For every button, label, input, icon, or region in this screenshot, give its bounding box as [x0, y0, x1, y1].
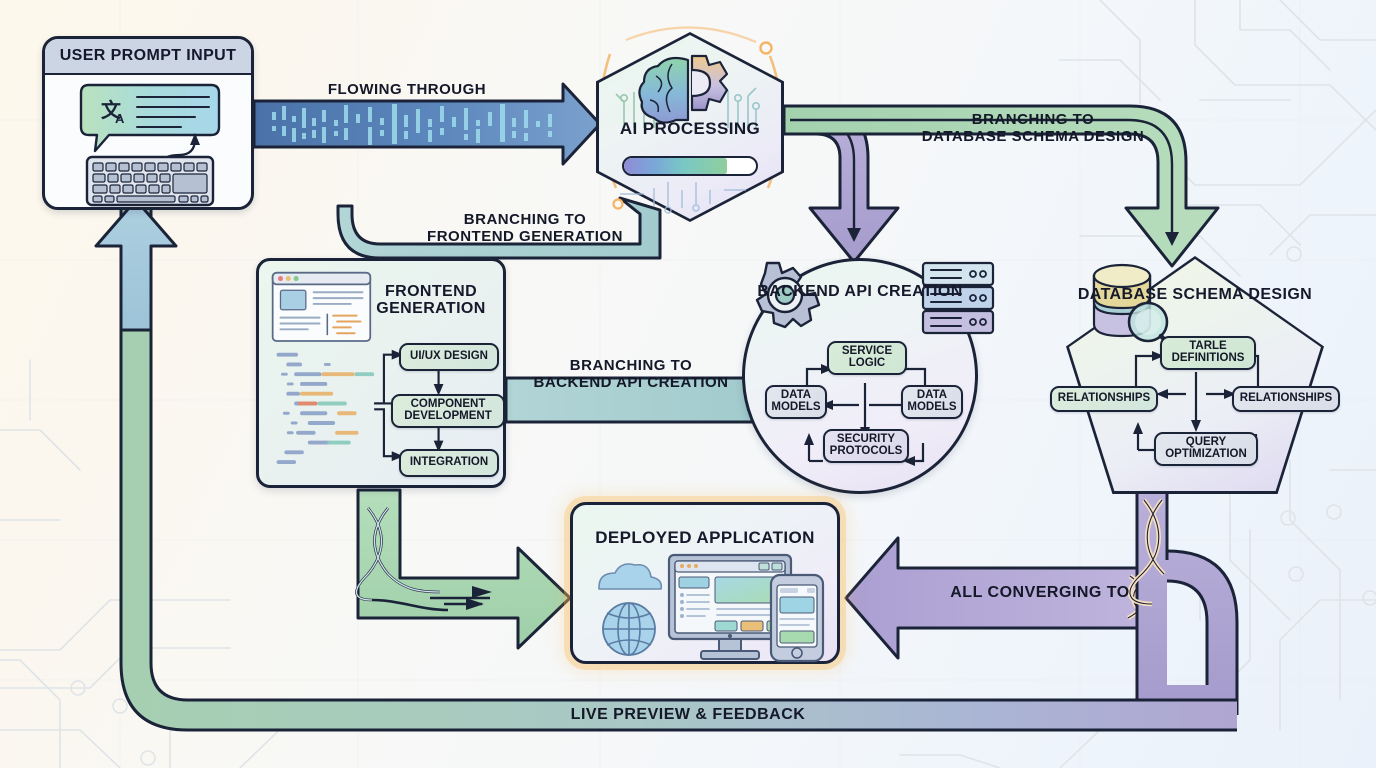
- user-prompt-input-title: USER PROMPT INPUT: [60, 47, 237, 64]
- user-prompt-illustration: 文 A: [45, 75, 254, 209]
- pill-data-models-left[interactable]: DATA MODELS: [765, 385, 827, 419]
- arrow-feedback-to-input: [96, 200, 176, 330]
- pill-query-optimization[interactable]: QUERY OPTIMIZATION: [1154, 432, 1258, 466]
- ai-processing-title: AI PROCESSING: [596, 120, 784, 138]
- backend-api-title: BACKEND API CREATION: [745, 283, 975, 300]
- pill-security-protocols[interactable]: SECURITY PROTOCOLS: [823, 429, 909, 463]
- pill-component-development[interactable]: COMPONENT DEVELOPMENT: [391, 394, 505, 428]
- label-all-converging-to: ALL CONVERGING TO: [930, 584, 1150, 602]
- svg-text:A: A: [115, 111, 125, 126]
- deployed-application-illustration: [573, 547, 843, 665]
- deployed-application-title: DEPLOYED APPLICATION: [573, 529, 837, 547]
- pill-relationships-right[interactable]: RELATIONSHIPS: [1232, 386, 1340, 412]
- brain-gear-icon: [639, 56, 727, 123]
- code-lines-icon: [279, 355, 373, 462]
- ai-progress-bar: [622, 156, 758, 176]
- node-database-schema-design[interactable]: DATABASE SCHEMA DESIGN TARLE DEFINITIONS…: [1066, 256, 1324, 494]
- label-branching-to-backend: BRANCHING TO BACKEND API CREATION: [516, 358, 746, 392]
- pill-service-logic[interactable]: SERVICE LOGIC: [827, 341, 907, 375]
- pill-table-definitions[interactable]: TARLE DEFINITIONS: [1160, 336, 1256, 370]
- label-branching-to-database: BRANCHING TO DATABASE SCHEMA DESIGN: [888, 112, 1178, 146]
- smartphone-icon: [771, 575, 823, 661]
- pill-integration[interactable]: INTEGRATION: [399, 449, 499, 477]
- pill-relationships-left[interactable]: RELATIONSHIPS: [1050, 386, 1158, 412]
- diagram-canvas: FLOWING THROUGH BRANCHING TO DATABASE SC…: [0, 0, 1376, 768]
- frontend-generation-title: FRONTEND GENERATION: [367, 283, 495, 318]
- user-prompt-input-header: USER PROMPT INPUT: [45, 39, 251, 75]
- label-branching-to-frontend: BRANCHING TO FRONTEND GENERATION: [398, 212, 652, 246]
- node-frontend-generation[interactable]: FRONTEND GENERATION UI/UX DESIGN COMPONE…: [256, 258, 506, 488]
- cloud-icon: [599, 564, 661, 589]
- pill-data-models-right[interactable]: DATA MODELS: [901, 385, 963, 419]
- ai-progress-fill: [624, 158, 727, 174]
- node-user-prompt-input[interactable]: USER PROMPT INPUT 文 A: [42, 36, 254, 210]
- arrow-frontend-to-deployed: [356, 490, 570, 648]
- keyboard-icon: [87, 157, 213, 205]
- user-prompt-input-body: 文 A: [45, 75, 251, 209]
- node-ai-processing[interactable]: AI PROCESSING: [596, 32, 784, 222]
- database-down-loop: [1130, 490, 1237, 715]
- database-schema-title: DATABASE SCHEMA DESIGN: [1066, 286, 1324, 303]
- browser-window-icon: [273, 273, 371, 341]
- node-backend-api-creation[interactable]: BACKEND API CREATION SERVICE LOGIC DATA …: [742, 258, 978, 494]
- globe-icon: [603, 603, 655, 655]
- label-live-preview-feedback: LIVE PREVIEW & FEEDBACK: [0, 706, 1376, 724]
- node-deployed-application[interactable]: DEPLOYED APPLICATION: [570, 502, 840, 664]
- label-flowing-through: FLOWING THROUGH: [262, 82, 552, 99]
- pill-ui-ux-design[interactable]: UI/UX DESIGN: [399, 343, 499, 371]
